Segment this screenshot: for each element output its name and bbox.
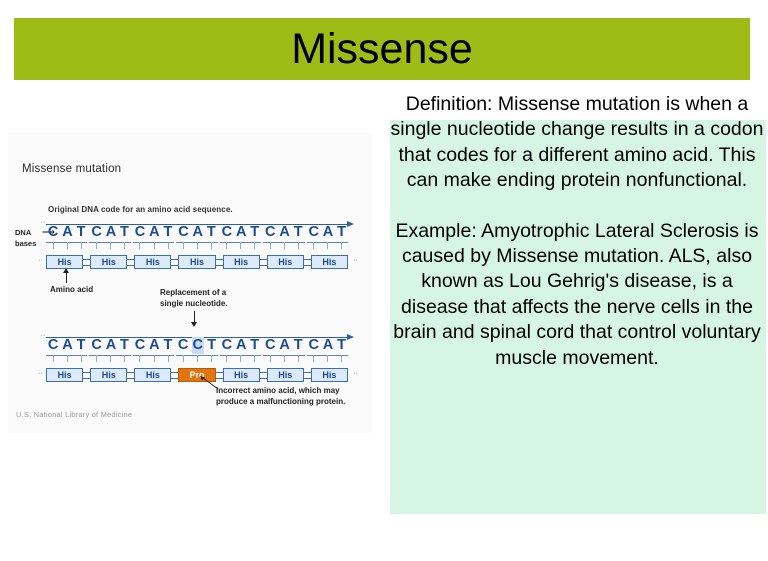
nucleotide: C (178, 337, 188, 354)
codon-tick (96, 242, 97, 249)
amino-acid-box: His (267, 368, 304, 382)
amino-chain-left-ellipsis: ·· (38, 370, 43, 377)
diagram-title: Missense mutation (22, 163, 121, 175)
nucleotide: C (222, 224, 232, 241)
nucleotide: C (48, 224, 58, 241)
peptide-bond-link (216, 259, 223, 266)
amino-acid-box: His (311, 255, 348, 269)
codon-tick (168, 242, 169, 249)
codon-tick (270, 242, 271, 249)
dna-bases-label-line2: bases (15, 239, 36, 248)
peptide-bond-link (83, 259, 90, 266)
codon-tick (254, 242, 255, 249)
missense-mutation-diagram: Missense mutation Original DNA code for … (8, 133, 372, 433)
incorrect-annotation-line1: Incorrect amino acid, which may (216, 386, 340, 395)
peptide-bond-link (127, 372, 134, 379)
definition-paragraph: Definition: Missense mutation is when a … (386, 92, 768, 194)
codon-tick (154, 355, 155, 362)
incorrect-amino-acid-annotation: Incorrect amino acid, which may produce … (216, 386, 345, 407)
peptide-bond-link (260, 372, 267, 379)
nucleotide: C (91, 224, 101, 241)
codon-tick (284, 355, 285, 362)
nucleotide: C (135, 337, 145, 354)
nucleotide: T (250, 224, 259, 241)
codon: CAT (133, 224, 174, 243)
amino-acid-box: His (311, 368, 348, 382)
codon-tick (168, 355, 169, 362)
amino-acid-box: His (178, 255, 215, 269)
codon-tick (110, 242, 111, 249)
nucleotide: A (236, 224, 246, 241)
codon-tick (139, 355, 140, 362)
page-title: Missense (291, 28, 473, 71)
codon-tick (124, 355, 125, 362)
amino-acid-annotation: Amino acid (50, 285, 93, 294)
nucleotide: A (106, 337, 116, 354)
amino-chain-right-ellipsis: ·· (353, 257, 358, 264)
peptide-bond-link (127, 259, 134, 266)
mutated-base-sequence: CATCATCATCCTCATCATCAT (46, 337, 348, 356)
amino-chain-left-ellipsis: ·· (38, 257, 43, 264)
codon-tick (53, 355, 54, 362)
mutated-amino-acid-chain: ·· HisHisHisProHisHisHis·· (46, 368, 348, 382)
codon-tick (96, 355, 97, 362)
codon-tick (183, 355, 184, 362)
nucleotide: T (163, 224, 172, 241)
replacement-annotation: Replacement of a single nucleotide. (160, 288, 228, 309)
nucleotide: A (149, 224, 159, 241)
peptide-bond-link (171, 372, 178, 379)
peptide-bond-link (260, 259, 267, 266)
codon-tick (341, 355, 342, 362)
peptide-bond-link (83, 372, 90, 379)
codon-tick (53, 242, 54, 249)
definition-text-block: Definition: Missense mutation is when a … (386, 92, 768, 371)
codon: CAT (263, 224, 304, 243)
codon-tick (197, 242, 198, 249)
codon: CAT (89, 224, 130, 243)
codon-tick (298, 355, 299, 362)
amino-acid-box: His (267, 255, 304, 269)
diagram-canvas: Missense mutation Original DNA code for … (8, 133, 372, 433)
codon-tick (211, 242, 212, 249)
original-dna-caption: Original DNA code for an amino acid sequ… (48, 205, 233, 214)
original-base-sequence: CATCATCATCATCATCATCAT (46, 224, 348, 243)
codon-tick (341, 242, 342, 249)
codon: CAT (263, 337, 304, 356)
codon-tick (67, 355, 68, 362)
nucleotide: C (222, 337, 232, 354)
codon-tick (254, 355, 255, 362)
codon-tick (327, 242, 328, 249)
codon-tick (313, 355, 314, 362)
mutated-nucleotide: C (192, 337, 204, 354)
codon-tick (284, 242, 285, 249)
codon-tick (67, 242, 68, 249)
example-paragraph: Example: Amyotrophic Lateral Sclerosis i… (386, 219, 768, 371)
nucleotide: T (207, 224, 216, 241)
nucleotide: C (178, 224, 188, 241)
amino-acid-box: His (90, 255, 127, 269)
nucleotide: T (294, 224, 303, 241)
codon-tick (240, 355, 241, 362)
nucleotide: C (48, 337, 58, 354)
original-amino-acid-chain: ·· HisHisHisHisHisHisHis·· (46, 255, 348, 269)
nucleotide: T (250, 337, 259, 354)
incorrect-annotation-line2: produce a malfunctioning protein. (216, 397, 345, 406)
codon-tick (226, 242, 227, 249)
nucleotide: A (323, 224, 333, 241)
axis-left-ellipsis: ·· (40, 332, 46, 339)
nucleotide: C (308, 224, 318, 241)
codon: CAT (176, 224, 217, 243)
nucleotide: T (337, 224, 346, 241)
nucleotide: T (163, 337, 172, 354)
codon: CAT (89, 337, 130, 356)
peptide-bond-link (304, 259, 311, 266)
nucleotide: T (207, 337, 216, 354)
codon-tick (313, 242, 314, 249)
nucleotide: A (193, 224, 203, 241)
codon-tick (270, 355, 271, 362)
nucleotide: T (77, 337, 86, 354)
amino-acid-box: His (46, 368, 83, 382)
nucleotide: C (135, 224, 145, 241)
peptide-bond-link (171, 259, 178, 266)
paragraph-spacer (386, 194, 768, 219)
nucleotide: T (120, 337, 129, 354)
slide-title-bar: Missense (14, 18, 750, 80)
codon-tick (154, 242, 155, 249)
dna-bases-label: DNA bases (15, 227, 36, 249)
codon: CAT (220, 337, 261, 356)
axis-left-ellipsis: ·· (40, 219, 46, 226)
nucleotide: C (265, 337, 275, 354)
axis-arrowhead-icon (347, 221, 354, 227)
nucleotide: T (120, 224, 129, 241)
nucleotide: A (236, 337, 246, 354)
codon-tick (139, 242, 140, 249)
nucleotide: T (294, 337, 303, 354)
nucleotide: C (308, 337, 318, 354)
codon-tick (211, 355, 212, 362)
codon-tick (197, 355, 198, 362)
codon-tick (110, 355, 111, 362)
nucleotide: A (62, 224, 72, 241)
nucleotide: A (323, 337, 333, 354)
amino-acid-box: His (46, 255, 83, 269)
nucleotide: C (91, 337, 101, 354)
codon: CAT (46, 337, 87, 356)
codon: CAT (46, 224, 87, 243)
codon: CAT (220, 224, 261, 243)
nucleotide: A (62, 337, 72, 354)
dna-bases-label-line1: DNA (15, 228, 31, 237)
amino-acid-box: His (223, 255, 260, 269)
amino-acid-pointer-icon (66, 269, 67, 283)
codon-tick (183, 242, 184, 249)
amino-acid-box: His (134, 368, 171, 382)
codon-tick (327, 355, 328, 362)
codon-tick (81, 242, 82, 249)
replacement-annotation-line2: single nucleotide. (160, 299, 228, 308)
amino-acid-box: His (134, 255, 171, 269)
peptide-bond-link (304, 372, 311, 379)
nucleotide: A (149, 337, 159, 354)
replacement-pointer-icon (194, 311, 195, 323)
nucleotide: T (337, 337, 346, 354)
codon: CAT (307, 337, 348, 356)
amino-chain-right-ellipsis: ·· (353, 370, 358, 377)
nucleotide: A (279, 337, 289, 354)
nucleotide: T (77, 224, 86, 241)
codon-tick (240, 242, 241, 249)
replacement-annotation-line1: Replacement of a (160, 288, 226, 297)
nucleotide: C (265, 224, 275, 241)
codon: CAT (133, 337, 174, 356)
nucleotide: A (279, 224, 289, 241)
codon: CCT (176, 337, 217, 356)
codon: CAT (307, 224, 348, 243)
amino-acid-box: His (90, 368, 127, 382)
axis-arrowhead-icon (347, 334, 354, 340)
source-credit: U.S. National Library of Medicine (16, 410, 132, 419)
nucleotide: A (106, 224, 116, 241)
codon-tick (298, 242, 299, 249)
codon-tick (124, 242, 125, 249)
codon-tick (226, 355, 227, 362)
codon-tick (81, 355, 82, 362)
amino-acid-box: His (223, 368, 260, 382)
